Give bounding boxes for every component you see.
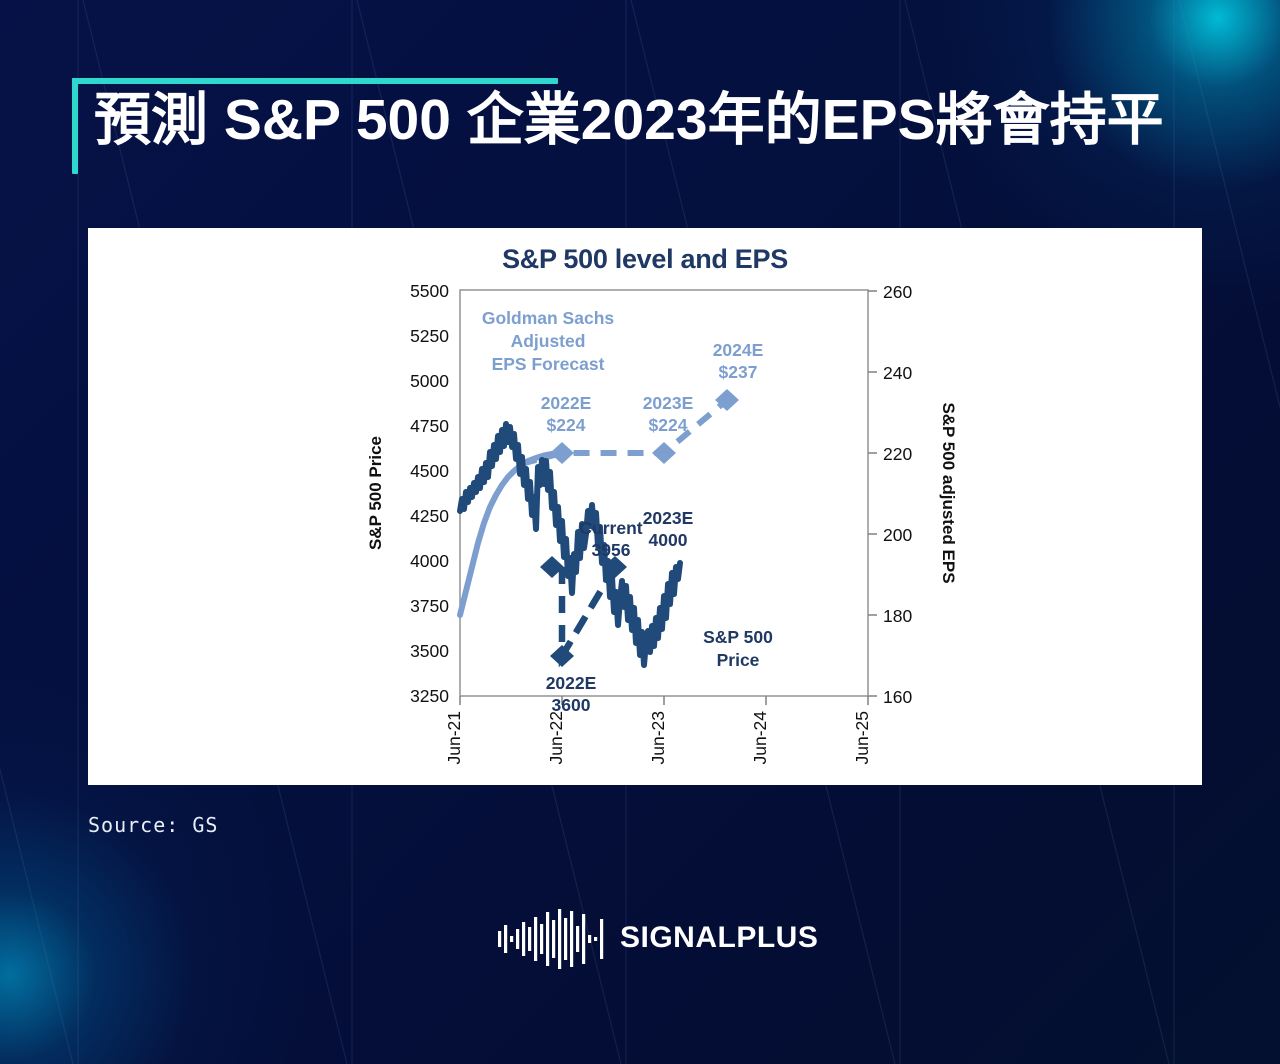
- svg-text:Price: Price: [717, 650, 760, 670]
- svg-text:5000: 5000: [410, 371, 449, 391]
- title-accent-left-bar: [72, 78, 78, 174]
- signalplus-logo: SIGNALPLUS: [498, 908, 798, 970]
- svg-text:Goldman Sachs: Goldman Sachs: [482, 308, 615, 328]
- svg-text:5500: 5500: [410, 281, 449, 301]
- svg-text:Jun-23: Jun-23: [648, 711, 668, 765]
- svg-text:Jun-25: Jun-25: [852, 711, 872, 765]
- x-axis-ticks: [460, 696, 868, 705]
- left-axis-title: S&P 500 Price: [366, 436, 385, 550]
- logo-wordmark: SIGNALPLUS: [620, 921, 818, 955]
- svg-text:2024E: 2024E: [713, 340, 764, 360]
- svg-text:220: 220: [883, 444, 912, 464]
- svg-text:180: 180: [883, 606, 912, 626]
- chart-plot: 5500 5250 5000 4750 4500 4250 4000 3750 …: [88, 228, 1202, 785]
- right-axis: [868, 291, 877, 696]
- svg-text:200: 200: [883, 525, 912, 545]
- svg-text:5250: 5250: [410, 326, 449, 346]
- svg-text:Adjusted: Adjusted: [511, 331, 586, 351]
- svg-text:160: 160: [883, 687, 912, 707]
- svg-text:4750: 4750: [410, 416, 449, 436]
- svg-text:Current: Current: [579, 518, 642, 538]
- svg-text:3956: 3956: [592, 540, 631, 560]
- source-label: Source: GS: [88, 813, 218, 837]
- svg-text:4250: 4250: [410, 506, 449, 526]
- svg-text:260: 260: [883, 282, 912, 302]
- right-axis-title: S&P 500 adjusted EPS: [939, 402, 958, 583]
- svg-text:$237: $237: [719, 362, 758, 382]
- svg-text:Jun-24: Jun-24: [750, 711, 770, 765]
- x-axis-labels: Jun-21 Jun-22 Jun-23 Jun-24 Jun-25: [444, 711, 872, 765]
- slide-root: 預測 S&P 500 企業2023年的EPS將會持平 S&P 500 level…: [0, 0, 1280, 1064]
- svg-text:$224: $224: [649, 415, 688, 435]
- svg-text:4000: 4000: [649, 530, 688, 550]
- svg-text:EPS Forecast: EPS Forecast: [492, 354, 605, 374]
- svg-text:240: 240: [883, 363, 912, 383]
- svg-text:$224: $224: [547, 415, 586, 435]
- svg-text:3600: 3600: [552, 695, 591, 715]
- svg-text:Jun-21: Jun-21: [444, 711, 464, 765]
- title-accent-top-bar: [72, 78, 558, 84]
- svg-text:3750: 3750: [410, 596, 449, 616]
- chart-panel: S&P 500 level and EPS 5500 5250 5000 475…: [88, 228, 1202, 785]
- page-title: 預測 S&P 500 企業2023年的EPS將會持平: [94, 89, 1164, 152]
- svg-text:2022E: 2022E: [546, 673, 597, 693]
- left-axis: 5500 5250 5000 4750 4500 4250 4000 3750 …: [410, 281, 449, 706]
- svg-text:2023E: 2023E: [643, 393, 694, 413]
- waveform-icon: [498, 908, 610, 970]
- svg-text:2022E: 2022E: [541, 393, 592, 413]
- svg-text:4000: 4000: [410, 551, 449, 571]
- svg-text:2023E: 2023E: [643, 508, 694, 528]
- svg-text:S&P 500: S&P 500: [703, 627, 773, 647]
- svg-text:3250: 3250: [410, 686, 449, 706]
- svg-text:3500: 3500: [410, 641, 449, 661]
- title-block: 預測 S&P 500 企業2023年的EPS將會持平: [72, 78, 1237, 178]
- chart-inner: S&P 500 level and EPS 5500 5250 5000 475…: [88, 228, 1202, 785]
- svg-text:4500: 4500: [410, 461, 449, 481]
- svg-text:Jun-22: Jun-22: [546, 711, 566, 765]
